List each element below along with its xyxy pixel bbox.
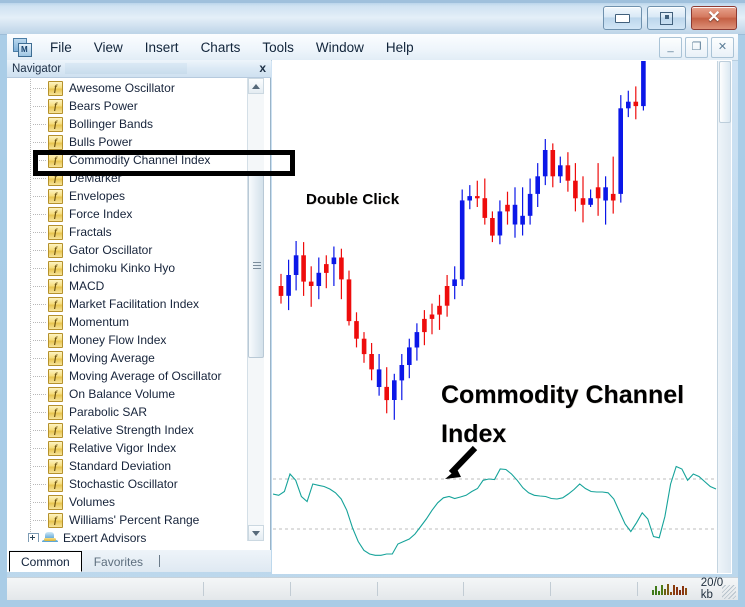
status-cell-5 xyxy=(464,582,551,596)
function-icon: f xyxy=(48,459,63,474)
tree-item-standard-deviation[interactable]: fStandard Deviation xyxy=(10,457,255,475)
scrollbar-grip-icon xyxy=(253,262,261,270)
navigator-tree[interactable]: fAwesome OscillatorfBears PowerfBollinge… xyxy=(9,78,256,543)
function-icon: f xyxy=(48,261,63,276)
menu-item-charts[interactable]: Charts xyxy=(190,37,252,58)
tree-item-label: On Balance Volume xyxy=(69,387,175,401)
status-cell-4 xyxy=(378,582,465,596)
metatrader-window: ✕ M File View Insert Charts Tools Window… xyxy=(0,0,745,607)
function-icon: f xyxy=(48,189,63,204)
tree-connector xyxy=(33,160,46,161)
tree-item-gator-oscillator[interactable]: fGator Oscillator xyxy=(10,241,255,259)
tree-item-stochastic-oscillator[interactable]: fStochastic Oscillator xyxy=(10,475,255,493)
tab-caret xyxy=(159,555,160,567)
signal-bars-icon xyxy=(652,584,687,595)
tree-item-label: Volumes xyxy=(69,495,115,509)
tree-connector xyxy=(33,394,46,395)
tree-item-envelopes[interactable]: fEnvelopes xyxy=(10,187,255,205)
maximize-icon xyxy=(660,12,673,25)
tree-item-money-flow-index[interactable]: fMoney Flow Index xyxy=(10,331,255,349)
tree-item-label: Money Flow Index xyxy=(69,333,166,347)
navigator-panel: Navigator x fAwesome OscillatorfBears Po… xyxy=(7,60,271,572)
tree-connector xyxy=(33,376,46,377)
function-icon: f xyxy=(48,513,63,528)
tree-item-moving-average[interactable]: fMoving Average xyxy=(10,349,255,367)
maximize-button[interactable] xyxy=(647,6,686,30)
function-icon: f xyxy=(48,351,63,366)
tree-item-force-index[interactable]: fForce Index xyxy=(10,205,255,223)
tree-connector xyxy=(33,232,46,233)
tree-item-on-balance-volume[interactable]: fOn Balance Volume xyxy=(10,385,255,403)
tree-connector xyxy=(33,466,46,467)
tree-item-ichimoku-kinko-hyo[interactable]: fIchimoku Kinko Hyo xyxy=(10,259,255,277)
tree-connector xyxy=(33,304,46,305)
navigator-title: Navigator xyxy=(12,63,61,75)
navigator-close-icon[interactable]: x xyxy=(259,61,266,75)
menu-item-insert[interactable]: Insert xyxy=(134,37,190,58)
tree-item-label: Relative Strength Index xyxy=(69,423,194,437)
tree-item-relative-vigor-index[interactable]: fRelative Vigor Index xyxy=(10,439,255,457)
tree-connector xyxy=(33,250,46,251)
tree-item-label: Commodity Channel Index xyxy=(69,153,210,167)
tree-item-demarker[interactable]: fDeMarker xyxy=(10,169,255,187)
menu-item-view[interactable]: View xyxy=(83,37,134,58)
expert-advisor-hat-icon xyxy=(42,532,58,544)
menu-item-tools[interactable]: Tools xyxy=(251,37,305,58)
function-icon: f xyxy=(48,477,63,492)
tree-item-label: Market Facilitation Index xyxy=(69,297,199,311)
function-icon: f xyxy=(48,279,63,294)
scroll-down-button[interactable] xyxy=(248,525,264,541)
mdi-buttons: _ ❐ ✕ xyxy=(659,37,734,58)
status-cell-2 xyxy=(204,582,291,596)
tree-item-expert-advisors[interactable]: Expert Advisors xyxy=(10,529,255,543)
function-icon: f xyxy=(48,153,63,168)
tree-item-label: Force Index xyxy=(69,207,132,221)
tree-item-label: Moving Average xyxy=(69,351,155,365)
tree-item-label: Moving Average of Oscillator xyxy=(69,369,222,383)
tree-item-label: Gator Oscillator xyxy=(69,243,152,257)
tree-item-label: Envelopes xyxy=(69,189,125,203)
tree-item-williams-percent-range[interactable]: fWilliams' Percent Range xyxy=(10,511,255,529)
chart-area[interactable]: Double Click Commodity Channel Index xyxy=(272,60,732,574)
resize-grip-icon[interactable] xyxy=(722,585,736,599)
function-icon: f xyxy=(48,495,63,510)
function-icon: f xyxy=(48,135,63,150)
tree-item-label: Standard Deviation xyxy=(69,459,171,473)
close-button[interactable]: ✕ xyxy=(691,6,737,30)
status-cell-1 xyxy=(7,582,204,596)
function-icon: f xyxy=(48,315,63,330)
close-icon: ✕ xyxy=(707,10,720,26)
metatrader-icon: M xyxy=(13,38,31,56)
tree-item-label: Relative Vigor Index xyxy=(69,441,176,455)
tree-item-label: Expert Advisors xyxy=(63,531,146,543)
tree-connector xyxy=(33,484,46,485)
annotation-indicator-name-line1: Commodity Channel xyxy=(441,381,684,409)
tree-item-label: Bears Power xyxy=(69,99,138,113)
navigator-scrollbar[interactable] xyxy=(247,78,264,541)
tree-item-label: MACD xyxy=(69,279,104,293)
mdi-restore-button[interactable]: ❐ xyxy=(685,37,708,58)
tree-item-label: Bollinger Bands xyxy=(69,117,153,131)
tree-item-moving-average-of-oscillator[interactable]: fMoving Average of Oscillator xyxy=(10,367,255,385)
chart-vertical-scrollbar[interactable] xyxy=(717,61,731,573)
app-icon-letter: M xyxy=(21,45,28,55)
title-bar-top-edge xyxy=(0,0,745,3)
tree-item-label: Ichimoku Kinko Hyo xyxy=(69,261,175,275)
tree-item-label: DeMarker xyxy=(69,171,122,185)
title-bar: ✕ xyxy=(0,0,745,35)
tree-item-bulls-power[interactable]: fBulls Power xyxy=(10,133,255,151)
function-icon: f xyxy=(48,441,63,456)
tree-item-label: Momentum xyxy=(69,315,129,329)
function-icon: f xyxy=(48,369,63,384)
tree-connector xyxy=(33,412,46,413)
function-icon: f xyxy=(48,333,63,348)
tree-item-momentum[interactable]: fMomentum xyxy=(10,313,255,331)
tree-connector xyxy=(33,178,46,179)
tab-common[interactable]: Common xyxy=(9,551,82,572)
tree-connector xyxy=(33,88,46,89)
tree-connector xyxy=(33,358,46,359)
tree-connector xyxy=(33,196,46,197)
tree-item-label: Stochastic Oscillator xyxy=(69,477,178,491)
navigator-tabs: Common Favorites xyxy=(9,550,271,572)
tree-item-commodity-channel-index[interactable]: fCommodity Channel Index xyxy=(10,151,255,169)
status-bar: 20/0 kb xyxy=(7,577,738,600)
function-icon: f xyxy=(48,99,63,114)
tree-item-label: Fractals xyxy=(69,225,112,239)
tree-connector xyxy=(33,214,46,215)
tree-item-fractals[interactable]: fFractals xyxy=(10,223,255,241)
tree-connector xyxy=(33,322,46,323)
mdi-close-button[interactable]: ✕ xyxy=(711,37,734,58)
navigator-header-fill xyxy=(65,63,187,74)
chevron-down-icon xyxy=(252,531,260,536)
tree-item-label: Bulls Power xyxy=(69,135,132,149)
tree-connector xyxy=(33,142,46,143)
tree-connector xyxy=(33,268,46,269)
tree-connector xyxy=(33,448,46,449)
status-cell-6 xyxy=(551,582,638,596)
chevron-up-icon xyxy=(252,84,260,89)
scrollbar-thumb[interactable] xyxy=(248,173,264,358)
function-icon: f xyxy=(48,81,63,96)
function-icon: f xyxy=(48,423,63,438)
function-icon: f xyxy=(48,243,63,258)
menu-item-help[interactable]: Help xyxy=(375,37,425,58)
tree-connector xyxy=(33,430,46,431)
function-icon: f xyxy=(48,207,63,222)
tree-item-awesome-oscillator[interactable]: fAwesome Oscillator xyxy=(10,79,255,97)
menu-bar: M File View Insert Charts Tools Window H… xyxy=(7,34,738,61)
tree-connector xyxy=(33,106,46,107)
tree-item-bears-power[interactable]: fBears Power xyxy=(10,97,255,115)
annotation-indicator-name: Commodity Channel Index xyxy=(441,376,731,454)
tree-item-label: Awesome Oscillator xyxy=(69,81,175,95)
status-cell-3 xyxy=(291,582,378,596)
expand-plus-icon[interactable] xyxy=(28,533,39,544)
function-icon: f xyxy=(48,405,63,420)
caption-buttons: ✕ xyxy=(603,6,737,30)
function-icon: f xyxy=(48,387,63,402)
tree-connector xyxy=(33,124,46,125)
tree-connector xyxy=(33,340,46,341)
tree-item-bollinger-bands[interactable]: fBollinger Bands xyxy=(10,115,255,133)
tree-item-relative-strength-index[interactable]: fRelative Strength Index xyxy=(10,421,255,439)
tree-connector xyxy=(33,520,46,521)
navigator-header: Navigator x xyxy=(7,60,271,78)
tree-connector xyxy=(33,502,46,503)
mdi-minimize-button[interactable]: _ xyxy=(659,37,682,58)
chart-scrollbar-thumb[interactable] xyxy=(719,61,731,123)
tree-item-market-facilitation-index[interactable]: fMarket Facilitation Index xyxy=(10,295,255,313)
annotation-indicator-name-line2: Index xyxy=(441,420,506,448)
function-icon: f xyxy=(48,225,63,240)
function-icon: f xyxy=(48,171,63,186)
tab-favorites[interactable]: Favorites xyxy=(82,551,155,572)
tree-item-parabolic-sar[interactable]: fParabolic SAR xyxy=(10,403,255,421)
menu-item-window[interactable]: Window xyxy=(305,37,375,58)
minimize-button[interactable] xyxy=(603,6,642,30)
price-and-indicator-chart xyxy=(273,61,731,573)
minimize-icon xyxy=(615,14,630,23)
tree-item-label: Williams' Percent Range xyxy=(69,513,199,527)
menu-item-file[interactable]: File xyxy=(39,37,83,58)
scroll-up-button[interactable] xyxy=(248,78,264,94)
function-icon: f xyxy=(48,117,63,132)
tree-item-volumes[interactable]: fVolumes xyxy=(10,493,255,511)
tree-item-label: Parabolic SAR xyxy=(69,405,147,419)
tree-connector xyxy=(33,286,46,287)
annotation-double-click: Double Click xyxy=(306,191,399,208)
function-icon: f xyxy=(48,297,63,312)
tree-item-macd[interactable]: fMACD xyxy=(10,277,255,295)
